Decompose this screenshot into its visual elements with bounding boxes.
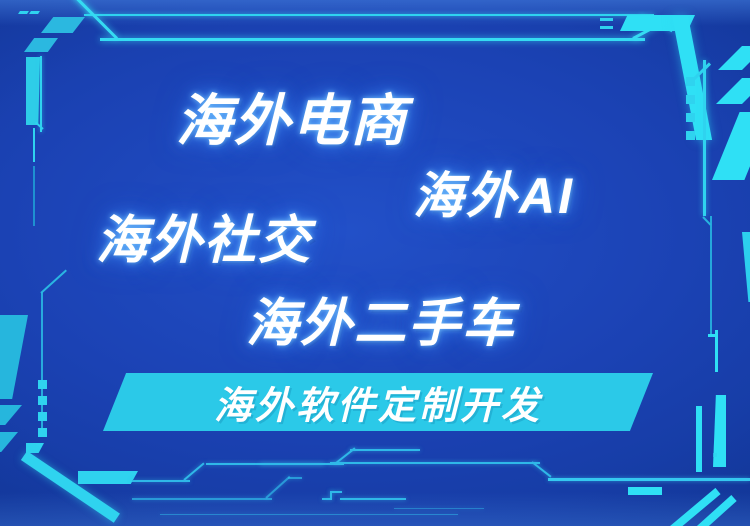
- circuit-trace: [531, 461, 551, 477]
- right-diagonal-stripe-icon: [712, 112, 750, 180]
- right-frame-lower-line: [710, 216, 712, 336]
- top-left-vertical-bar-icon: [26, 57, 40, 125]
- top-inner-frame-line: [100, 38, 645, 41]
- left-diagonal-stripe-icon: [0, 405, 22, 425]
- bottom-right-bracket-bar-icon: [713, 395, 726, 467]
- bottom-right-tiny-dot-icon: [713, 453, 717, 457]
- bottom-right-bracket-line: [715, 330, 718, 372]
- right-edge-chip-icon: [742, 232, 750, 302]
- top-right-diagonal-bar-icon: [672, 16, 712, 140]
- circuit-trace: [350, 449, 420, 451]
- top-inner-frame-chamfer-icon: [72, 0, 118, 40]
- top-left-parallelogram-icon: [41, 17, 85, 33]
- right-dot-icon: [686, 131, 695, 140]
- circuit-trace: [330, 491, 342, 493]
- bottom-left-diagonal-bar-icon: [21, 451, 120, 523]
- left-diagonal-stripe-icon: [0, 432, 18, 452]
- bottom-left-horizontal-bar-icon: [78, 471, 138, 484]
- top-right-dash-icon: [600, 18, 613, 21]
- circuit-trace: [288, 477, 302, 479]
- left-dot-icon: [38, 380, 47, 389]
- left-frame-line-faint: [33, 166, 35, 226]
- top-left-parallelogram-icon: [24, 38, 58, 52]
- circuit-trace: [340, 498, 406, 500]
- headline-social: 海外社交: [96, 198, 312, 273]
- top-outer-frame-line: [84, 14, 654, 16]
- right-frame-chamfer-icon: [687, 62, 711, 85]
- right-dot-icon: [686, 113, 695, 122]
- software-development-badge: 海外软件定制开发: [103, 373, 653, 431]
- bottom-right-diagonal-icon: [690, 495, 737, 526]
- headline-used-car: 海外二手车: [246, 281, 516, 356]
- top-outer-frame-tail-icon: [640, 14, 673, 32]
- top-outer-frame-chamfer-icon: [73, 0, 93, 15]
- corner-tick-icon: [29, 11, 40, 14]
- left-dot-icon: [38, 428, 47, 437]
- right-dot-icon: [686, 77, 695, 86]
- bottom-right-bracket-stub-icon: [708, 334, 716, 337]
- top-inner-frame-tail-icon: [632, 18, 669, 39]
- bottom-right-diagonal-icon: [656, 488, 721, 526]
- badge-label: 海外软件定制开发: [103, 375, 653, 430]
- headline-ai: 海外AI: [413, 156, 575, 228]
- headline-ecommerce: 海外电商: [176, 76, 408, 157]
- right-frame-lower-chamfer-icon: [702, 216, 711, 225]
- left-frame-line: [40, 56, 42, 132]
- circuit-trace: [330, 462, 540, 464]
- top-right-parallelogram-bar-icon: [620, 15, 695, 31]
- circuit-trace: [183, 463, 204, 481]
- circuit-trace: [132, 498, 272, 500]
- circuit-trace: [394, 508, 484, 509]
- circuit-trace: [548, 478, 750, 481]
- right-frame-line: [703, 60, 706, 216]
- bottom-left-cap-icon: [26, 443, 44, 453]
- left-dot-icon: [38, 396, 47, 405]
- bottom-right-horizontal-icon: [628, 487, 662, 495]
- circuit-trace: [265, 476, 290, 499]
- top-glow-band: [0, 0, 750, 26]
- bottom-right-inner-bracket-icon: [696, 406, 702, 472]
- corner-tick-icon: [18, 11, 29, 14]
- left-diagonal-stripe-icon: [0, 315, 28, 399]
- top-right-dash-icon: [600, 26, 613, 29]
- circuit-trace: [132, 480, 190, 482]
- circuit-trace: [160, 514, 458, 515]
- left-frame-lower-chamfer-icon: [40, 270, 67, 294]
- left-frame-step-icon: [35, 122, 44, 130]
- left-frame-lower-line: [41, 292, 43, 432]
- right-dot-icon: [686, 95, 695, 104]
- right-diagonal-stripe-icon: [716, 78, 750, 104]
- tech-banner-poster: 海外电商 海外AI 海外社交 海外二手车 海外软件定制开发: [0, 0, 750, 526]
- left-frame-line: [33, 128, 35, 162]
- right-diagonal-stripe-icon: [718, 46, 750, 70]
- left-dot-icon: [38, 412, 47, 421]
